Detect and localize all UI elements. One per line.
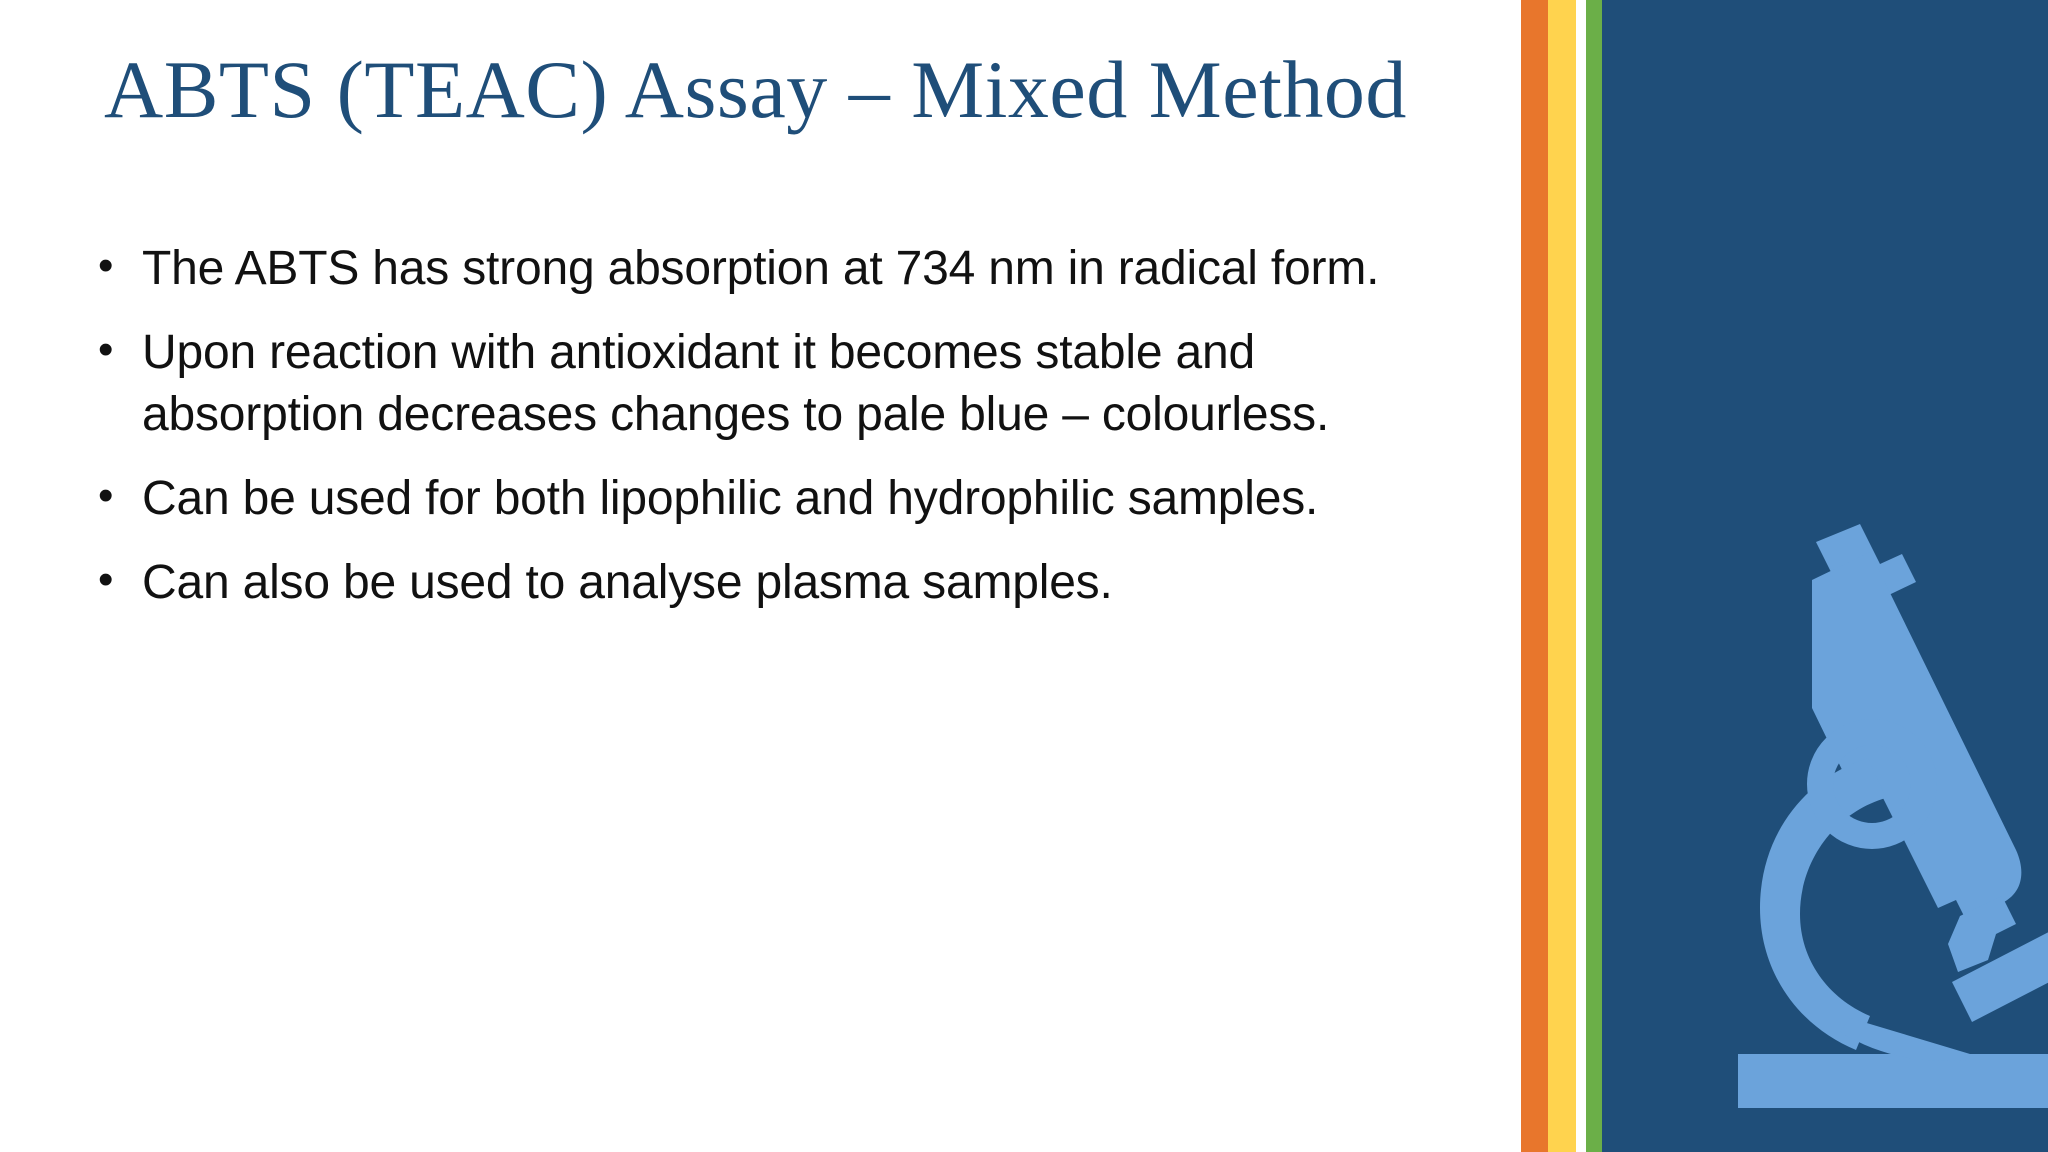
bullet-point-icon: • — [98, 238, 113, 295]
presentation-slide: ABTS (TEAC) Assay – Mixed Method • The A… — [0, 0, 2048, 1152]
page-title: ABTS (TEAC) Assay – Mixed Method — [104, 46, 1414, 135]
bullet-point-icon: • — [98, 468, 113, 525]
list-item: • Can also be used to analyse plasma sam… — [92, 552, 1482, 614]
bullet-list: • The ABTS has strong absorption at 734 … — [92, 238, 1482, 614]
microscope-icon — [1720, 520, 2048, 1120]
stripe-green — [1586, 0, 1602, 1152]
stripe-white-inner — [1576, 0, 1586, 1152]
stripe-yellow — [1548, 0, 1576, 1152]
slide-content-area: ABTS (TEAC) Assay – Mixed Method • The A… — [0, 0, 1508, 1152]
bullet-point-icon: • — [98, 552, 113, 609]
stripe-orange — [1521, 0, 1548, 1152]
list-item-text: Can also be used to analyse plasma sampl… — [142, 552, 1482, 614]
bullet-point-icon: • — [98, 322, 113, 379]
list-item: • Can be used for both lipophilic and hy… — [92, 468, 1482, 530]
list-item-text: The ABTS has strong absorption at 734 nm… — [142, 238, 1482, 300]
decorative-side-band — [1508, 0, 2048, 1152]
blue-accent-panel — [1602, 0, 2048, 1152]
list-item-text: Can be used for both lipophilic and hydr… — [142, 468, 1482, 530]
list-item: • The ABTS has strong absorption at 734 … — [92, 238, 1482, 300]
list-item-text: Upon reaction with antioxidant it become… — [142, 322, 1482, 446]
list-item: • Upon reaction with antioxidant it beco… — [92, 322, 1482, 446]
stripe-white-outer — [1508, 0, 1521, 1152]
